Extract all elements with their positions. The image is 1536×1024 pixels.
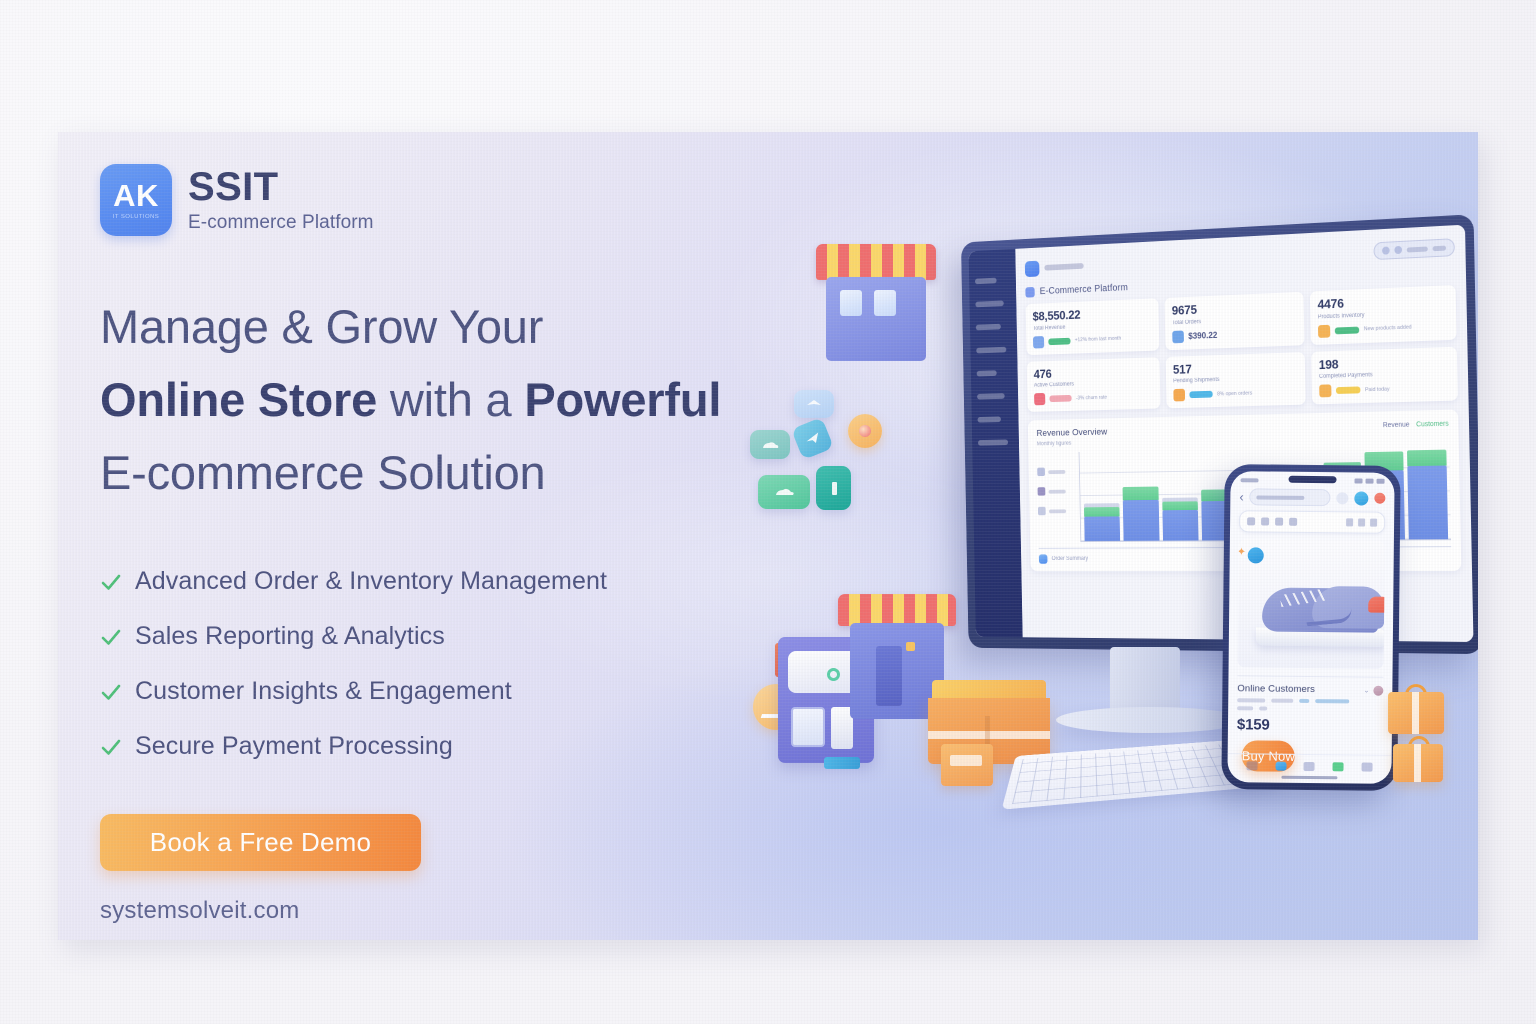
desktop-monitor: E-Commerce Platform $8,550.22 Total Reve… <box>961 214 1478 654</box>
feature-label: Customer Insights & Engagement <box>135 677 512 706</box>
wifi-icon <box>1366 479 1374 484</box>
legend-text <box>1048 470 1065 474</box>
phone-toolbar <box>1239 510 1385 534</box>
legend-swatch <box>1037 468 1045 477</box>
account-role-text <box>1433 245 1447 251</box>
chart-bar-segment-revenue <box>1084 516 1120 541</box>
kpi-footer: 8% open orders <box>1173 386 1298 402</box>
upload-icon <box>794 390 834 418</box>
tabs-icon[interactable] <box>1346 518 1353 526</box>
store-door-shape <box>876 646 902 706</box>
awning-shape <box>838 594 956 626</box>
status-badge <box>1335 326 1359 334</box>
kpi-footer: New products added <box>1318 320 1449 338</box>
product-info: Online Customers ⌄ <box>1237 675 1384 735</box>
promo-banner: AK IT SOLUTIONS SSIT E-commerce Platform… <box>58 132 1478 940</box>
avatar <box>1373 685 1383 695</box>
meta-stock <box>1271 699 1293 703</box>
legend-row <box>1038 507 1074 516</box>
reload-icon[interactable] <box>1275 518 1283 526</box>
product-meta <box>1237 698 1383 704</box>
gift-body <box>1393 744 1443 782</box>
chevron-down-icon[interactable]: ⌄ <box>1363 686 1369 694</box>
gift-body <box>1388 692 1444 734</box>
kpi-footer: Paid today <box>1319 381 1450 398</box>
kpi-delta: -3% churn rate <box>1076 395 1107 402</box>
status-time <box>1241 478 1259 482</box>
monitor-stand-base <box>1056 707 1244 733</box>
chart-bar <box>1084 504 1120 542</box>
phone-browser-nav: ‹ <box>1230 484 1394 512</box>
product-title-row: Online Customers ⌄ <box>1237 683 1383 696</box>
kpi-card[interactable]: $8,550.22 Total Revenue +12% from last m… <box>1026 298 1160 355</box>
legend-swatch <box>1038 487 1046 495</box>
toolbar-left-icons <box>1247 517 1297 526</box>
feature-label: Advanced Order & Inventory Management <box>135 567 607 596</box>
kpi-label: Completed Payments <box>1319 370 1450 380</box>
legend-row <box>1037 467 1073 476</box>
add-icon[interactable] <box>1247 517 1255 525</box>
chart-footer-label: Order Summary <box>1052 556 1089 562</box>
kpi-card[interactable]: 198 Completed Payments Paid today <box>1311 346 1458 404</box>
phone-screen: ‹ <box>1227 471 1394 784</box>
store-window-shape <box>840 290 862 316</box>
legend-entry-customers[interactable]: Customers <box>1416 421 1449 429</box>
product-image-area: ✦ <box>1238 539 1385 669</box>
product-price: $159 <box>1237 716 1383 735</box>
store-window-shape <box>874 290 896 316</box>
kpi-value: 198 <box>1319 354 1450 372</box>
package-box-small <box>941 744 993 786</box>
chart-bar-segment-customers <box>1084 507 1119 516</box>
sidebar-item-customers[interactable] <box>977 370 997 376</box>
rating-icon <box>1299 699 1309 703</box>
book-demo-button[interactable]: Book a Free Demo <box>100 814 421 871</box>
shoe-heel-accent <box>1368 597 1385 613</box>
phone-tab-bar <box>1228 753 1392 772</box>
sidebar-item-reports[interactable] <box>977 393 1005 399</box>
chart-bar-segment-revenue <box>1123 499 1160 541</box>
headline-bold-powerful: Powerful <box>524 373 721 426</box>
sidebar-item-payments[interactable] <box>978 416 1001 422</box>
chart-bar-segment-revenue <box>1408 466 1449 540</box>
gift-ribbon <box>1412 692 1419 734</box>
mobile-phone-mockup: ‹ <box>1221 464 1400 791</box>
lock-icon <box>1336 492 1348 504</box>
status-badge <box>1048 337 1070 344</box>
kpi-label: Active Customers <box>1034 379 1153 388</box>
sidebar-item-products[interactable] <box>976 324 1001 331</box>
meta-rating-text <box>1315 699 1349 703</box>
kpi-footer: $390.22 <box>1172 326 1297 343</box>
legend-entry-revenue[interactable]: Revenue <box>1383 422 1410 430</box>
monitor-bezel: E-Commerce Platform $8,550.22 Total Reve… <box>961 214 1478 654</box>
hero-illustration: E-Commerce Platform $8,550.22 Total Reve… <box>738 132 1478 940</box>
chart-bar-segment-revenue <box>1162 510 1199 541</box>
tab-cart-icon[interactable] <box>1304 762 1315 771</box>
kpi-card[interactable]: 517 Pending Shipments 8% open orders <box>1166 352 1306 409</box>
headline-line-2-plain: with a <box>377 373 524 426</box>
kpi-value: 4476 <box>1317 292 1448 311</box>
meta-sku <box>1237 706 1253 710</box>
legend-text <box>1049 509 1066 513</box>
check-icon <box>100 571 122 593</box>
kpi-value: $8,550.22 <box>1032 305 1151 323</box>
legend-row <box>1038 487 1074 496</box>
check-icon <box>100 626 122 648</box>
gift-box <box>1393 744 1443 782</box>
feature-label: Sales Reporting & Analytics <box>135 622 445 651</box>
users-icon <box>1034 393 1045 405</box>
brand-badge-icon <box>1248 547 1264 563</box>
chart-side-legend <box>1037 452 1074 542</box>
kpi-card[interactable]: 9675 Total Orders $390.22 <box>1164 292 1304 350</box>
package-icon <box>1172 330 1184 343</box>
status-badge <box>1336 387 1360 395</box>
storefront-icon <box>816 244 936 364</box>
tab-profile-icon[interactable] <box>1362 763 1373 772</box>
cloud-icon <box>750 430 790 459</box>
dashboard-title-text: E-Commerce Platform <box>1040 283 1128 297</box>
page-backdrop: AK IT SOLUTIONS SSIT E-commerce Platform… <box>0 0 1536 1024</box>
battery-icon <box>1377 479 1385 484</box>
kpi-footer: +12% from last month <box>1033 331 1152 348</box>
chart-bar <box>1407 456 1448 539</box>
logo-initials: AK <box>113 180 159 211</box>
check-icon <box>1318 324 1330 337</box>
app-logo-icon <box>1025 260 1040 277</box>
kpi-delta: Paid today <box>1365 386 1390 393</box>
kpi-card[interactable]: 476 Active Customers -3% churn rate <box>1027 357 1161 412</box>
status-badge <box>1189 391 1212 398</box>
chart-title: Revenue Overview <box>1036 427 1107 439</box>
star-icon[interactable] <box>1261 517 1269 525</box>
user-account-pill[interactable] <box>1373 238 1455 260</box>
terminal-screen <box>791 707 825 747</box>
tag-icon <box>1173 389 1185 402</box>
toolbar-right-icons <box>1346 518 1377 526</box>
brand-logo-icon: AK IT SOLUTIONS <box>100 164 172 236</box>
kpi-card[interactable]: 4476 Products Inventory New products add… <box>1310 285 1457 345</box>
sidebar-item-orders[interactable] <box>975 300 1003 307</box>
window-title-text <box>1044 263 1083 271</box>
chart-bar <box>1122 492 1159 541</box>
kpi-card-grid: $8,550.22 Total Revenue +12% from last m… <box>1026 285 1458 412</box>
sneaker-product-image <box>1254 573 1385 648</box>
logo-subtext: IT SOLUTIONS <box>113 214 159 219</box>
chart-legend: Revenue Customers <box>1383 421 1449 429</box>
tab-orders-icon[interactable] <box>1333 762 1344 771</box>
status-badge <box>1049 395 1071 402</box>
cart-icon <box>1033 336 1044 349</box>
headline-bold-online-store: Online Store <box>100 373 377 426</box>
cloud-upload-icon <box>758 475 810 509</box>
kpi-delta: +12% from last month <box>1075 336 1121 343</box>
sidebar-item-settings[interactable] <box>978 439 1008 445</box>
product-actions: ⌄ <box>1363 685 1383 695</box>
kpi-delta: $390.22 <box>1188 330 1217 341</box>
account-name-text <box>1407 246 1428 252</box>
card-chip-icon <box>824 757 860 769</box>
tab-shop-icon[interactable] <box>1275 762 1286 771</box>
product-title: Online Customers <box>1237 683 1315 695</box>
awning-shape <box>816 244 936 280</box>
brand-text-block: SSIT E-commerce Platform <box>188 164 374 234</box>
notification-badge-icon <box>848 414 882 448</box>
chart-bar-segment-customers <box>1407 450 1446 467</box>
gear-icon <box>1382 246 1390 254</box>
forward-icon[interactable] <box>1358 518 1365 526</box>
close-tab-icon[interactable] <box>1370 519 1377 527</box>
share-icon[interactable] <box>1289 518 1297 526</box>
sidebar-item-home[interactable] <box>975 278 997 285</box>
brand-tagline: E-commerce Platform <box>188 212 374 234</box>
avatar <box>1394 246 1402 254</box>
refresh-icon[interactable] <box>1354 491 1368 505</box>
sidebar-item-inventory[interactable] <box>976 347 1006 354</box>
topbar-left <box>1025 258 1084 277</box>
tab-home-icon[interactable] <box>1246 761 1257 770</box>
phone-notch <box>1289 476 1337 484</box>
kpi-delta: New products added <box>1364 325 1412 333</box>
gift-ribbon <box>1414 744 1421 782</box>
url-text <box>1257 495 1305 500</box>
product-meta-2 <box>1237 706 1383 712</box>
phone-home-indicator <box>1281 776 1337 780</box>
signal-icon <box>1355 478 1363 483</box>
chart-bar <box>1162 497 1199 541</box>
brand-name: SSIT <box>188 166 374 208</box>
feature-label: Secure Payment Processing <box>135 732 453 761</box>
grid-icon <box>1025 287 1034 298</box>
meta-category <box>1237 698 1265 702</box>
store-sign-dot <box>906 642 915 651</box>
status-indicators <box>1355 478 1385 483</box>
kpi-footer: -3% churn rate <box>1034 390 1153 406</box>
chart-bar-segment-customers <box>1122 487 1158 500</box>
check-icon <box>1319 385 1331 398</box>
close-icon[interactable] <box>1374 493 1385 504</box>
kpi-value: 476 <box>1034 364 1153 381</box>
chart-bar-segment-customers <box>1162 502 1198 511</box>
kpi-delta: 8% open orders <box>1217 390 1252 397</box>
summary-icon <box>1039 555 1048 564</box>
check-icon <box>100 681 122 703</box>
monitor-stand-neck <box>1110 647 1180 715</box>
meta-dash <box>1259 706 1267 710</box>
gift-box <box>1388 692 1444 734</box>
send-icon <box>791 417 834 460</box>
kpi-value: 517 <box>1173 359 1298 376</box>
url-input[interactable] <box>1250 488 1331 506</box>
legend-swatch <box>1038 507 1046 515</box>
dashboard-sidebar <box>969 249 1023 637</box>
back-arrow-icon[interactable]: ‹ <box>1239 490 1243 503</box>
book-icon <box>816 466 851 510</box>
legend-text <box>1049 489 1066 493</box>
kpi-label: Pending Shipments <box>1173 375 1298 385</box>
kpi-value: 9675 <box>1172 299 1297 317</box>
check-icon <box>100 736 122 758</box>
